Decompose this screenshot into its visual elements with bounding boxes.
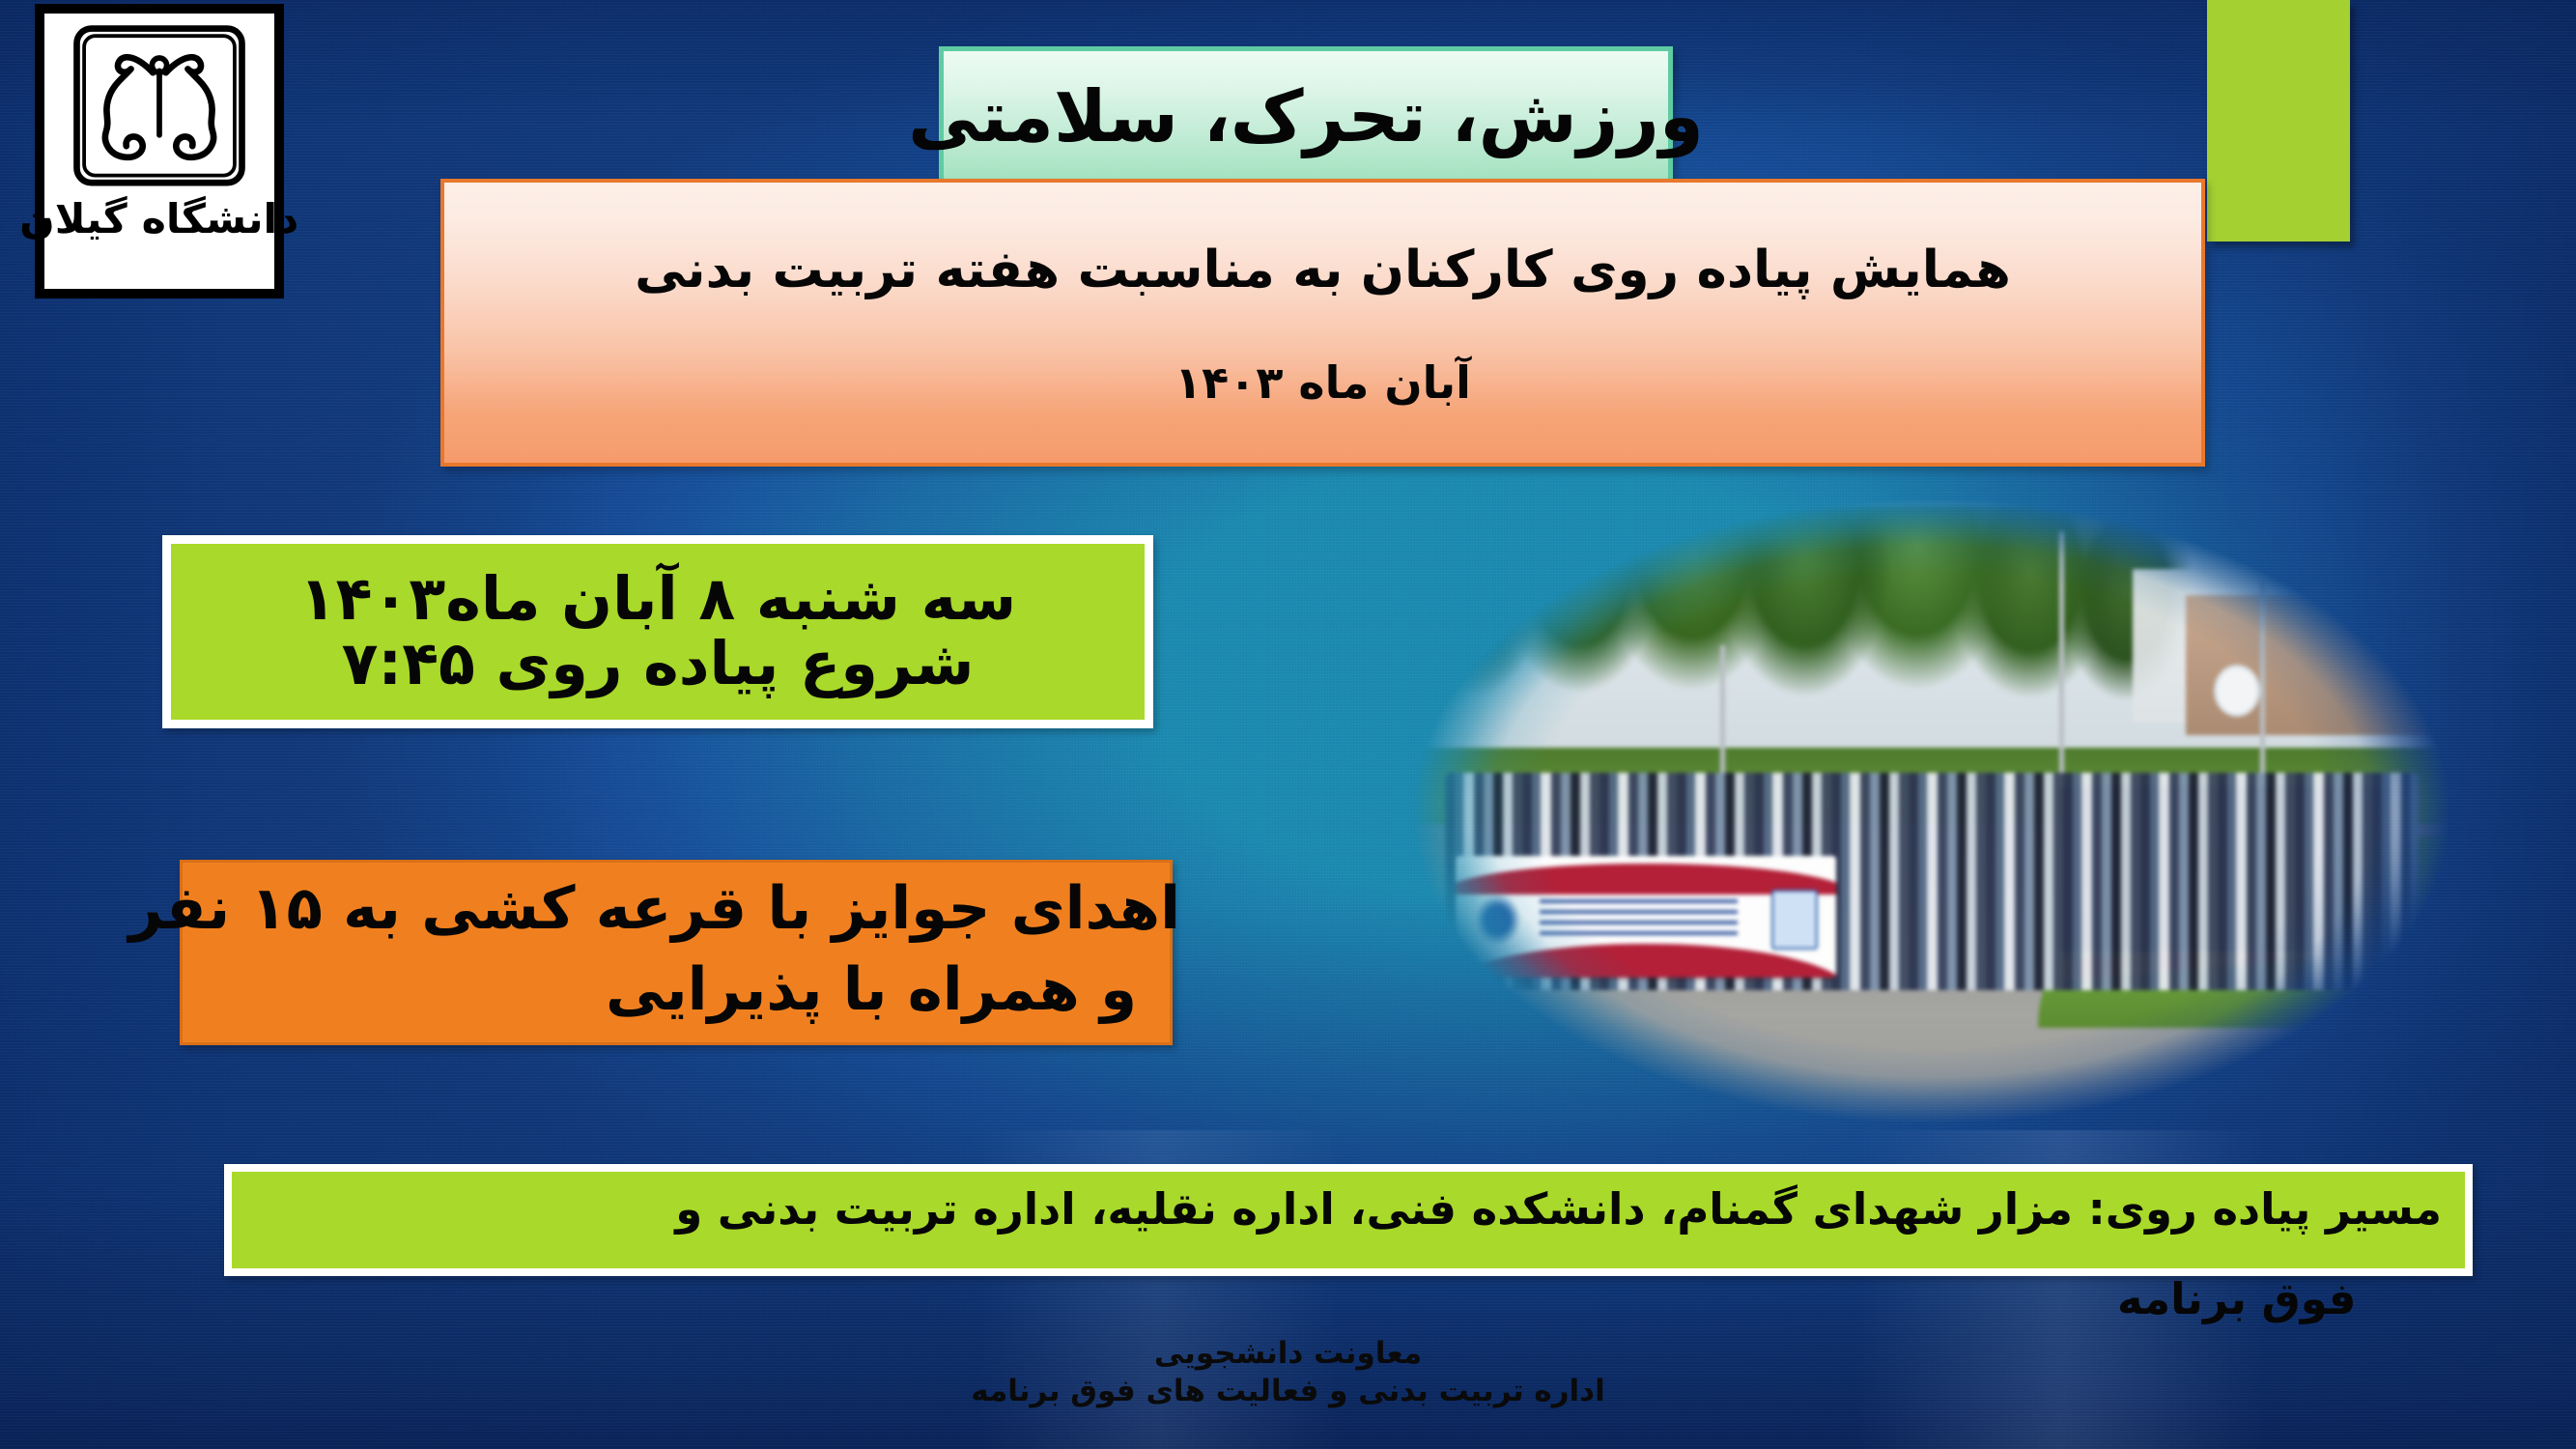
route-box: مسیر پیاده روی: مزار شهدای گمنام، دانشکد… [224,1164,2473,1276]
logo-inner-frame: دانشگاه گیلان [44,14,274,289]
photo-banner-figure-icon [1475,895,1520,946]
headline-date-text: آبان ماه ۱۴۰۳ [1175,358,1471,408]
photo-banner-text [1540,899,1738,936]
photo-brick-building [2186,595,2440,735]
guilan-butterfly-emblem-icon [68,21,251,205]
route-text: مسیر پیاده روی: مزار شهدای گمنام، دانشکد… [201,1183,2442,1236]
prize-lottery-line: اهدای جوایز با قرعه کشی به ۱۵ نفر [156,876,1180,941]
prize-box: اهدای جوایز با قرعه کشی به ۱۵ نفر و همرا… [180,860,1173,1045]
photo-event-banner [1456,856,1837,977]
headline-banner: همایش پیاده روی کارکنان به مناسبت هفته ت… [440,179,2205,467]
logo-caption: دانشگاه گیلان [19,199,298,240]
route-overflow-text: فوق برنامه [2117,1273,2356,1325]
university-logo: دانشگاه گیلان [35,4,284,298]
start-time-line: شروع پیاده روی ۷:۴۵ [342,632,975,696]
title-banner-text: ورزش، تحرک، سلامتی [908,81,1704,153]
prize-refreshments-line: و همراه با پذیرایی [190,957,1137,1022]
decorative-green-rectangle [2207,0,2350,241]
photo-round-sign-icon [2214,665,2260,717]
date-time-box: سه شنبه ۸ آبان ماه۱۴۰۳ شروع پیاده روی ۷:… [162,535,1153,728]
footer: معاونت دانشجویی اداره تربیت بدنی و فعالی… [0,1335,2576,1410]
headline-primary-text: همایش پیاده روی کارکنان به مناسبت هفته ت… [635,242,2011,298]
footer-office-line: اداره تربیت بدنی و فعالیت های فوق برنامه [0,1373,2576,1410]
title-banner: ورزش، تحرک، سلامتی [939,46,1673,186]
walking-event-photo [1402,493,2461,1130]
photo-oval-mask [1402,493,2461,1130]
photo-treeline [1402,505,2207,785]
date-line: سه شنبه ۸ آبان ماه۱۴۰۳ [299,567,1016,632]
photo-banner-logo-icon [1771,890,1817,950]
footer-department-line: معاونت دانشجویی [0,1335,2576,1373]
poster-canvas: دانشگاه گیلان ورزش، تحرک، سلامتی همایش پ… [0,0,2576,1449]
